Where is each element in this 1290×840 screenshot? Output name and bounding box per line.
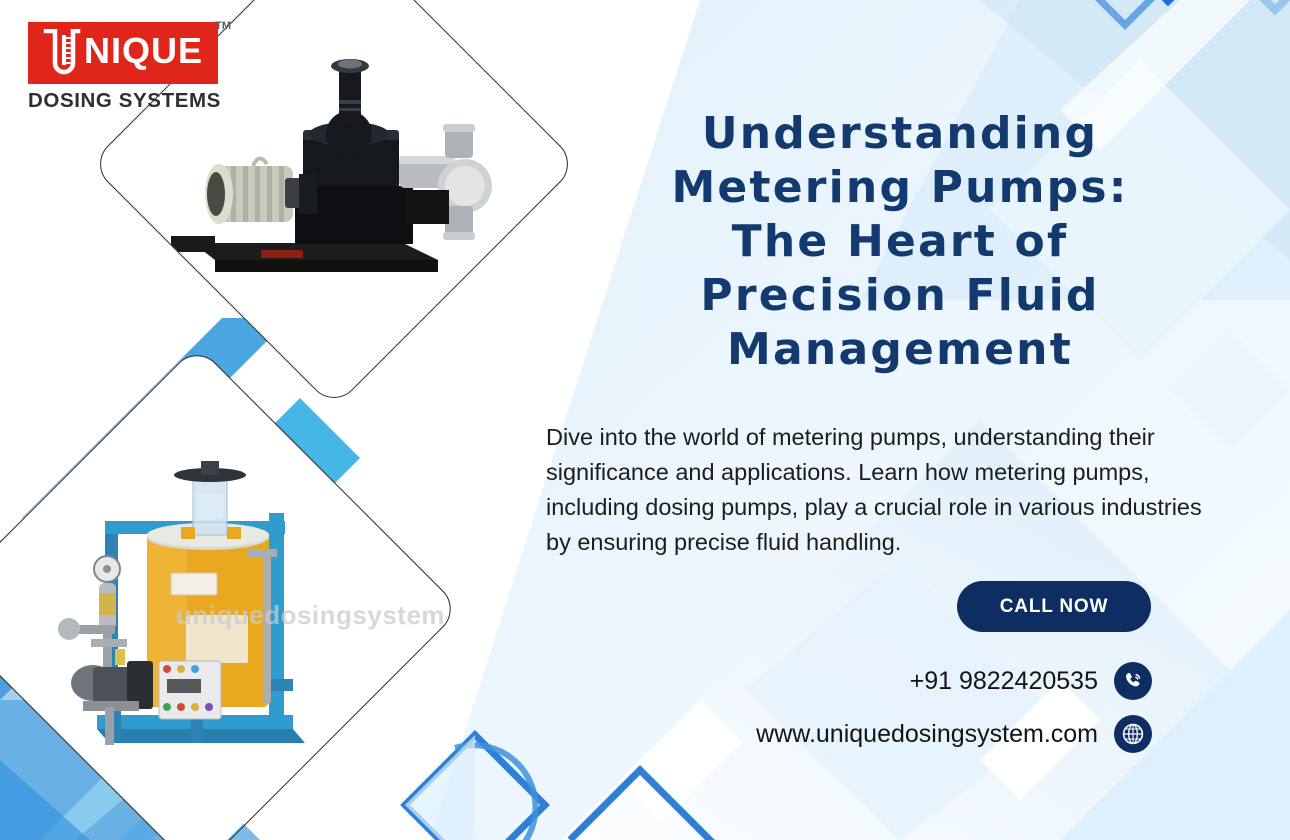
description-paragraph: Dive into the world of metering pumps, u…: [546, 420, 1206, 560]
phone-call-icon[interactable]: [1114, 662, 1152, 700]
call-now-button[interactable]: CALL NOW: [957, 581, 1151, 632]
page-title: Understanding Metering Pumps: The Heart …: [640, 107, 1160, 377]
phone-number[interactable]: +91 9822420535: [910, 667, 1098, 696]
phone-contact-row[interactable]: +91 9822420535: [700, 662, 1152, 700]
website-contact-row[interactable]: www.uniquedosingsystem.com: [620, 715, 1152, 753]
beaker-u-icon: [42, 29, 82, 77]
globe-icon[interactable]: [1114, 715, 1152, 753]
logo-tagline: DOSING SYSTEMS: [28, 89, 228, 113]
marketing-banner: uniquedosingsystem NIQUE TM DOSING SYSTE…: [0, 0, 1290, 840]
logo-mark: NIQUE TM: [28, 22, 218, 84]
trademark-symbol: TM: [215, 20, 231, 32]
logo-wordmark: NIQUE: [84, 33, 203, 69]
company-logo[interactable]: NIQUE TM DOSING SYSTEMS: [28, 22, 228, 113]
website-url[interactable]: www.uniquedosingsystem.com: [756, 720, 1098, 749]
